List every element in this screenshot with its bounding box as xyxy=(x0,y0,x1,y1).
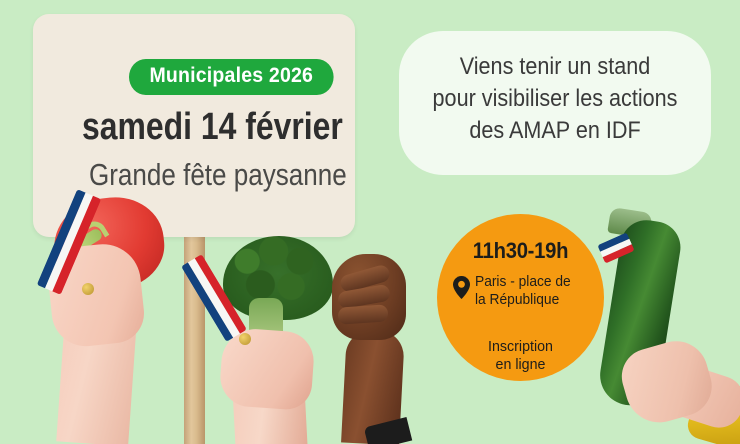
callout-line-1: Viens tenir un stand xyxy=(415,51,696,83)
callout-line-2: pour visibiliser les actions xyxy=(415,83,696,115)
signup-note: Inscription en ligne xyxy=(441,338,600,375)
event-info-circle: 11h30-19h Paris - place de la République… xyxy=(437,214,604,381)
callout-line-3: des AMAP en IDF xyxy=(415,115,696,147)
event-location-line-1: Paris - place de xyxy=(475,274,571,290)
sash-medal xyxy=(239,333,251,345)
finger xyxy=(68,341,114,366)
poster-canvas: Municipales 2026 samedi 14 février Grand… xyxy=(0,0,740,444)
knuckle xyxy=(337,304,388,324)
map-pin-icon xyxy=(453,276,470,304)
callout-panel: Viens tenir un stand pour visibiliser le… xyxy=(399,31,711,175)
finger xyxy=(227,382,283,406)
municipales-badge: Municipales 2026 xyxy=(129,59,334,95)
raised-fist xyxy=(328,252,410,444)
event-time: 11h30-19h xyxy=(444,238,598,264)
event-location-line-2: la République xyxy=(475,292,559,308)
sash-medal xyxy=(82,283,94,295)
hand-holding-broccoli xyxy=(195,238,345,444)
sign-headline: samedi 14 février xyxy=(82,108,334,146)
callout-text: Viens tenir un stand pour visibiliser le… xyxy=(415,51,696,147)
event-location: Paris - place de la République xyxy=(453,274,593,309)
signup-line-1: Inscription xyxy=(441,338,600,356)
hand-holding-red-pepper xyxy=(20,190,200,444)
event-location-text: Paris - place de la République xyxy=(475,274,571,309)
sign-subheadline: Grande fête paysanne xyxy=(89,159,341,190)
signup-line-2: en ligne xyxy=(441,356,600,374)
